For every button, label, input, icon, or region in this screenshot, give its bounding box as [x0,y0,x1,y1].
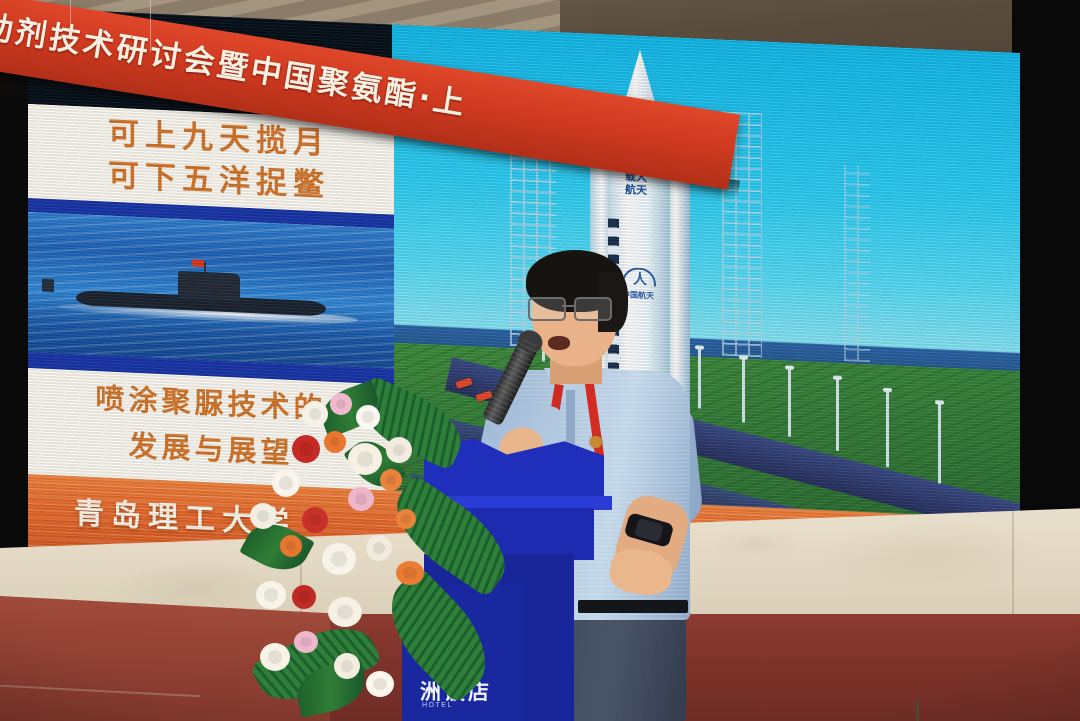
speaker-glasses-icon [528,297,624,317]
flower-white-6 [250,503,276,529]
flower-white-7 [322,543,356,575]
conference-photo-scene: ★ 中国载人航天 人 中国航天 可上九天揽月 可下五洋捉鳖 [0,0,1080,721]
flower-white-10 [328,597,362,627]
submarine-china-flag-icon [192,259,204,267]
flower-white-5 [272,469,300,497]
submarine-sail [178,271,240,302]
flower-orange-2 [380,469,402,491]
flower-orange-3 [280,535,302,557]
flower-white-8 [366,535,392,561]
banner-hanging-string-1 [70,0,71,40]
floral-arrangement [236,385,486,721]
submarine-mast [204,262,206,274]
flower-white-1 [302,401,328,427]
flower-orange-4 [396,561,424,585]
flower-red-2 [302,507,328,533]
flower-orange-1 [324,431,346,453]
flower-pink-1 [330,393,352,415]
banner-hanging-string-2 [150,0,151,52]
lattice-tower-far [844,165,870,362]
flower-white-9 [256,581,286,609]
submarine-bow-marker [42,279,54,293]
carpet-seam-2 [916,700,919,721]
flower-white-4 [386,437,412,463]
flower-red-3 [292,585,316,609]
flower-white-3 [348,443,382,475]
flower-white-2 [356,405,380,429]
screen-right-dark-edge [1012,0,1080,580]
flower-red-1 [292,435,320,463]
flower-orange-5 [396,509,416,529]
speaker-mouth [548,336,570,350]
flower-pink-2 [348,487,374,511]
flower-white-13 [366,671,394,697]
flower-white-11 [260,643,290,671]
submarine-photo [28,212,394,369]
flower-white-12 [334,653,360,679]
flower-pink-3 [294,631,318,653]
